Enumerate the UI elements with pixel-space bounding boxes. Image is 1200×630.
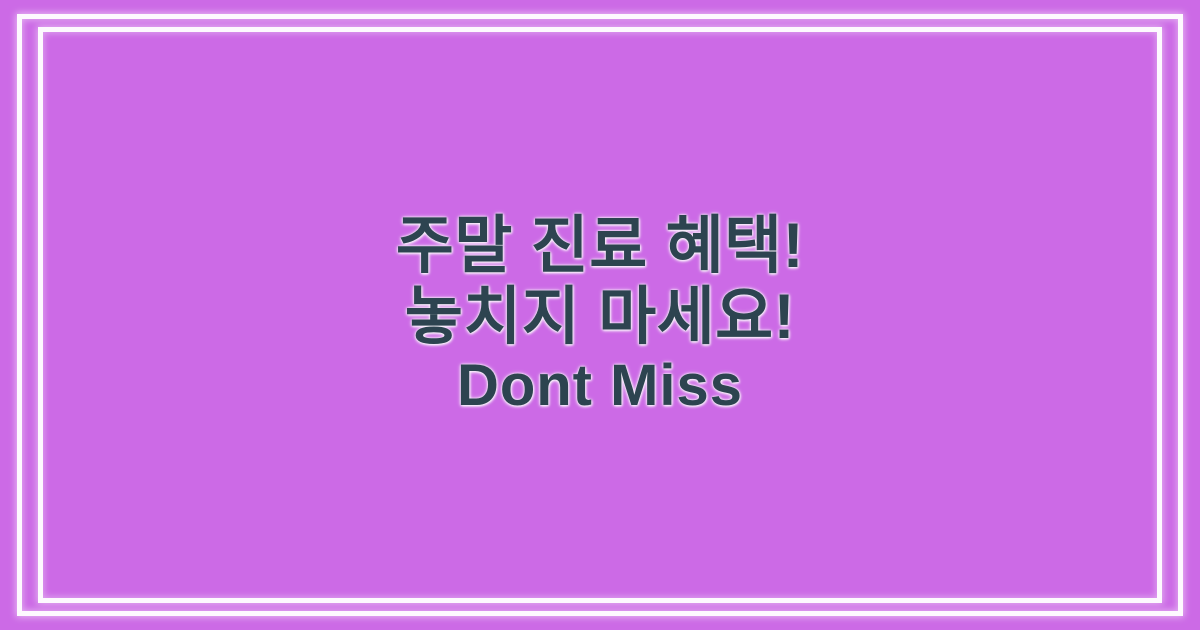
headline-line-2: 놓치지 마세요! (405, 284, 795, 350)
headline-block: 주말 진료 혜택! 놓치지 마세요! Dont Miss (0, 0, 1200, 630)
promo-poster: 주말 진료 혜택! 놓치지 마세요! Dont Miss (0, 0, 1200, 630)
headline-line-3: Dont Miss (457, 356, 743, 417)
headline-line-1: 주말 진료 혜택! (396, 213, 804, 279)
